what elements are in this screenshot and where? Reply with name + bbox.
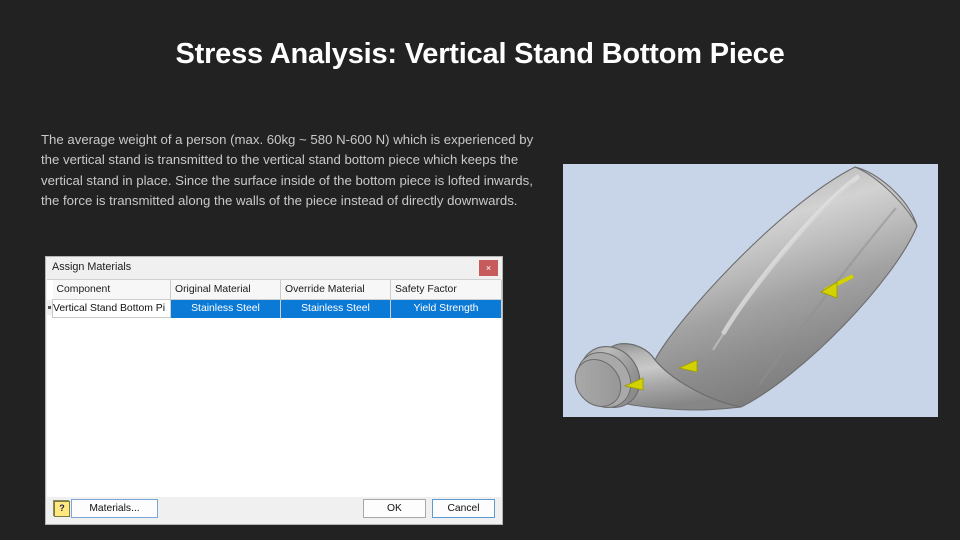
table-row[interactable]: Vertical Stand Bottom Pi Stainless Steel… <box>53 300 502 318</box>
cell-original-material[interactable]: Stainless Steel <box>171 300 281 318</box>
table-header-row: Component Original Material Override Mat… <box>53 280 502 300</box>
materials-table: Component Original Material Override Mat… <box>52 280 502 318</box>
assign-materials-dialog: Assign Materials × Component Original Ma… <box>45 256 503 525</box>
materials-button[interactable]: Materials... <box>71 499 158 518</box>
cad-render-image <box>563 164 938 417</box>
column-header-component[interactable]: Component <box>53 280 171 300</box>
help-glyph: ? <box>54 501 70 517</box>
cell-override-material[interactable]: Stainless Steel <box>281 300 391 318</box>
column-header-original-material[interactable]: Original Material <box>171 280 281 300</box>
column-header-override-material[interactable]: Override Material <box>281 280 391 300</box>
close-icon[interactable]: × <box>479 260 498 276</box>
cell-component[interactable]: Vertical Stand Bottom Pi <box>53 300 171 318</box>
cancel-button[interactable]: Cancel <box>432 499 495 518</box>
body-paragraph: The average weight of a person (max. 60k… <box>41 130 546 212</box>
cell-safety-factor[interactable]: Yield Strength <box>391 300 502 318</box>
cad-part-illustration <box>563 164 938 417</box>
ok-button[interactable]: OK <box>363 499 426 518</box>
dialog-content-area: Component Original Material Override Mat… <box>47 279 501 500</box>
slide-canvas: Stress Analysis: Vertical Stand Bottom P… <box>0 0 960 540</box>
column-header-safety-factor[interactable]: Safety Factor <box>391 280 502 300</box>
dialog-footer: ? Materials... OK Cancel <box>47 497 501 523</box>
dialog-title: Assign Materials <box>52 261 131 273</box>
page-title: Stress Analysis: Vertical Stand Bottom P… <box>0 38 960 71</box>
help-icon[interactable]: ? <box>53 500 69 516</box>
dialog-titlebar: Assign Materials × <box>46 257 502 279</box>
